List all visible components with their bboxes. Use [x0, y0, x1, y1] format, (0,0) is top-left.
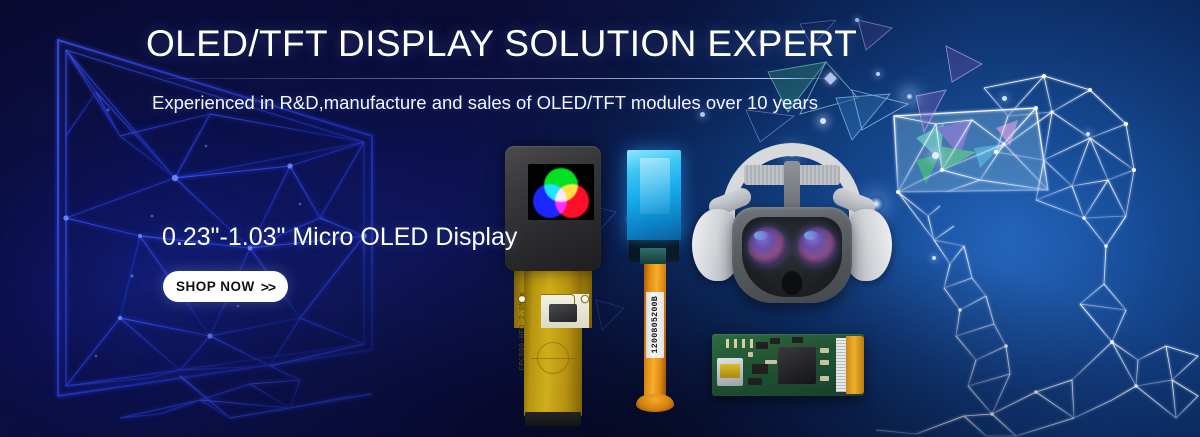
- oled-flex-emblem: [537, 342, 569, 374]
- pcb-pad: [748, 352, 753, 357]
- vr-strap-center: [784, 161, 800, 209]
- pcb-driver-board: [712, 334, 864, 396]
- rgb-red-circle: [555, 184, 589, 218]
- pcb-orange-flex: [846, 336, 864, 394]
- micro-oled-module: FPC800-HFO-2.0N m: [497, 146, 609, 427]
- pcb-component: [752, 364, 768, 374]
- pcb-pad: [820, 376, 829, 381]
- pcb-component: [770, 338, 780, 344]
- oled-flex-marking: FPC800-HFO-2.0N m: [519, 292, 527, 370]
- pcb-pin-header: [726, 339, 758, 348]
- pcb-pad: [765, 360, 777, 364]
- shop-now-label: SHOP NOW: [176, 279, 255, 294]
- pcb-pad: [820, 360, 829, 365]
- panel-teal-chip: [640, 248, 666, 264]
- chevron-right-icon: >>: [261, 279, 275, 295]
- oled-mount-hole: [582, 296, 588, 302]
- blue-display-panel-module: 1200805200B: [620, 150, 690, 428]
- pcb-component: [792, 337, 803, 343]
- oled-connector: [525, 412, 581, 426]
- serial-label-text: 1200805200B: [650, 296, 660, 353]
- promo-banner: FPC800-HFO-2.0N m 1200805200B: [0, 0, 1200, 437]
- panel-sheen: [640, 158, 670, 214]
- orange-cable-foot: [636, 394, 674, 412]
- oled-bezel: [505, 146, 601, 271]
- blue-lcd-panel: [627, 150, 681, 240]
- pcb-pad: [820, 348, 829, 353]
- oled-flex-cable: [524, 264, 582, 416]
- vr-lens-left: [748, 227, 786, 265]
- pcb-component: [748, 378, 762, 385]
- pcb-main-ic: [778, 346, 816, 384]
- title-divider: [166, 78, 832, 79]
- product-headline: 0.23"-1.03" Micro OLED Display: [162, 221, 517, 253]
- page-subtitle: Experienced in R&D,manufacture and sales…: [152, 90, 818, 116]
- shop-now-button[interactable]: SHOP NOW >>: [163, 271, 288, 302]
- pcb-fpc-connector: [836, 338, 846, 392]
- page-title: OLED/TFT DISPLAY SOLUTION EXPERT: [146, 22, 857, 66]
- pcb-component: [756, 342, 768, 349]
- serial-label: 1200805200B: [646, 292, 664, 358]
- pcb-usb-connector: [717, 358, 743, 386]
- oled-screen: [528, 164, 594, 220]
- vr-nose-gap: [782, 271, 802, 295]
- oled-driver-ic: [549, 304, 577, 322]
- vr-headset: [686, 143, 898, 313]
- vr-lens-right: [798, 227, 836, 265]
